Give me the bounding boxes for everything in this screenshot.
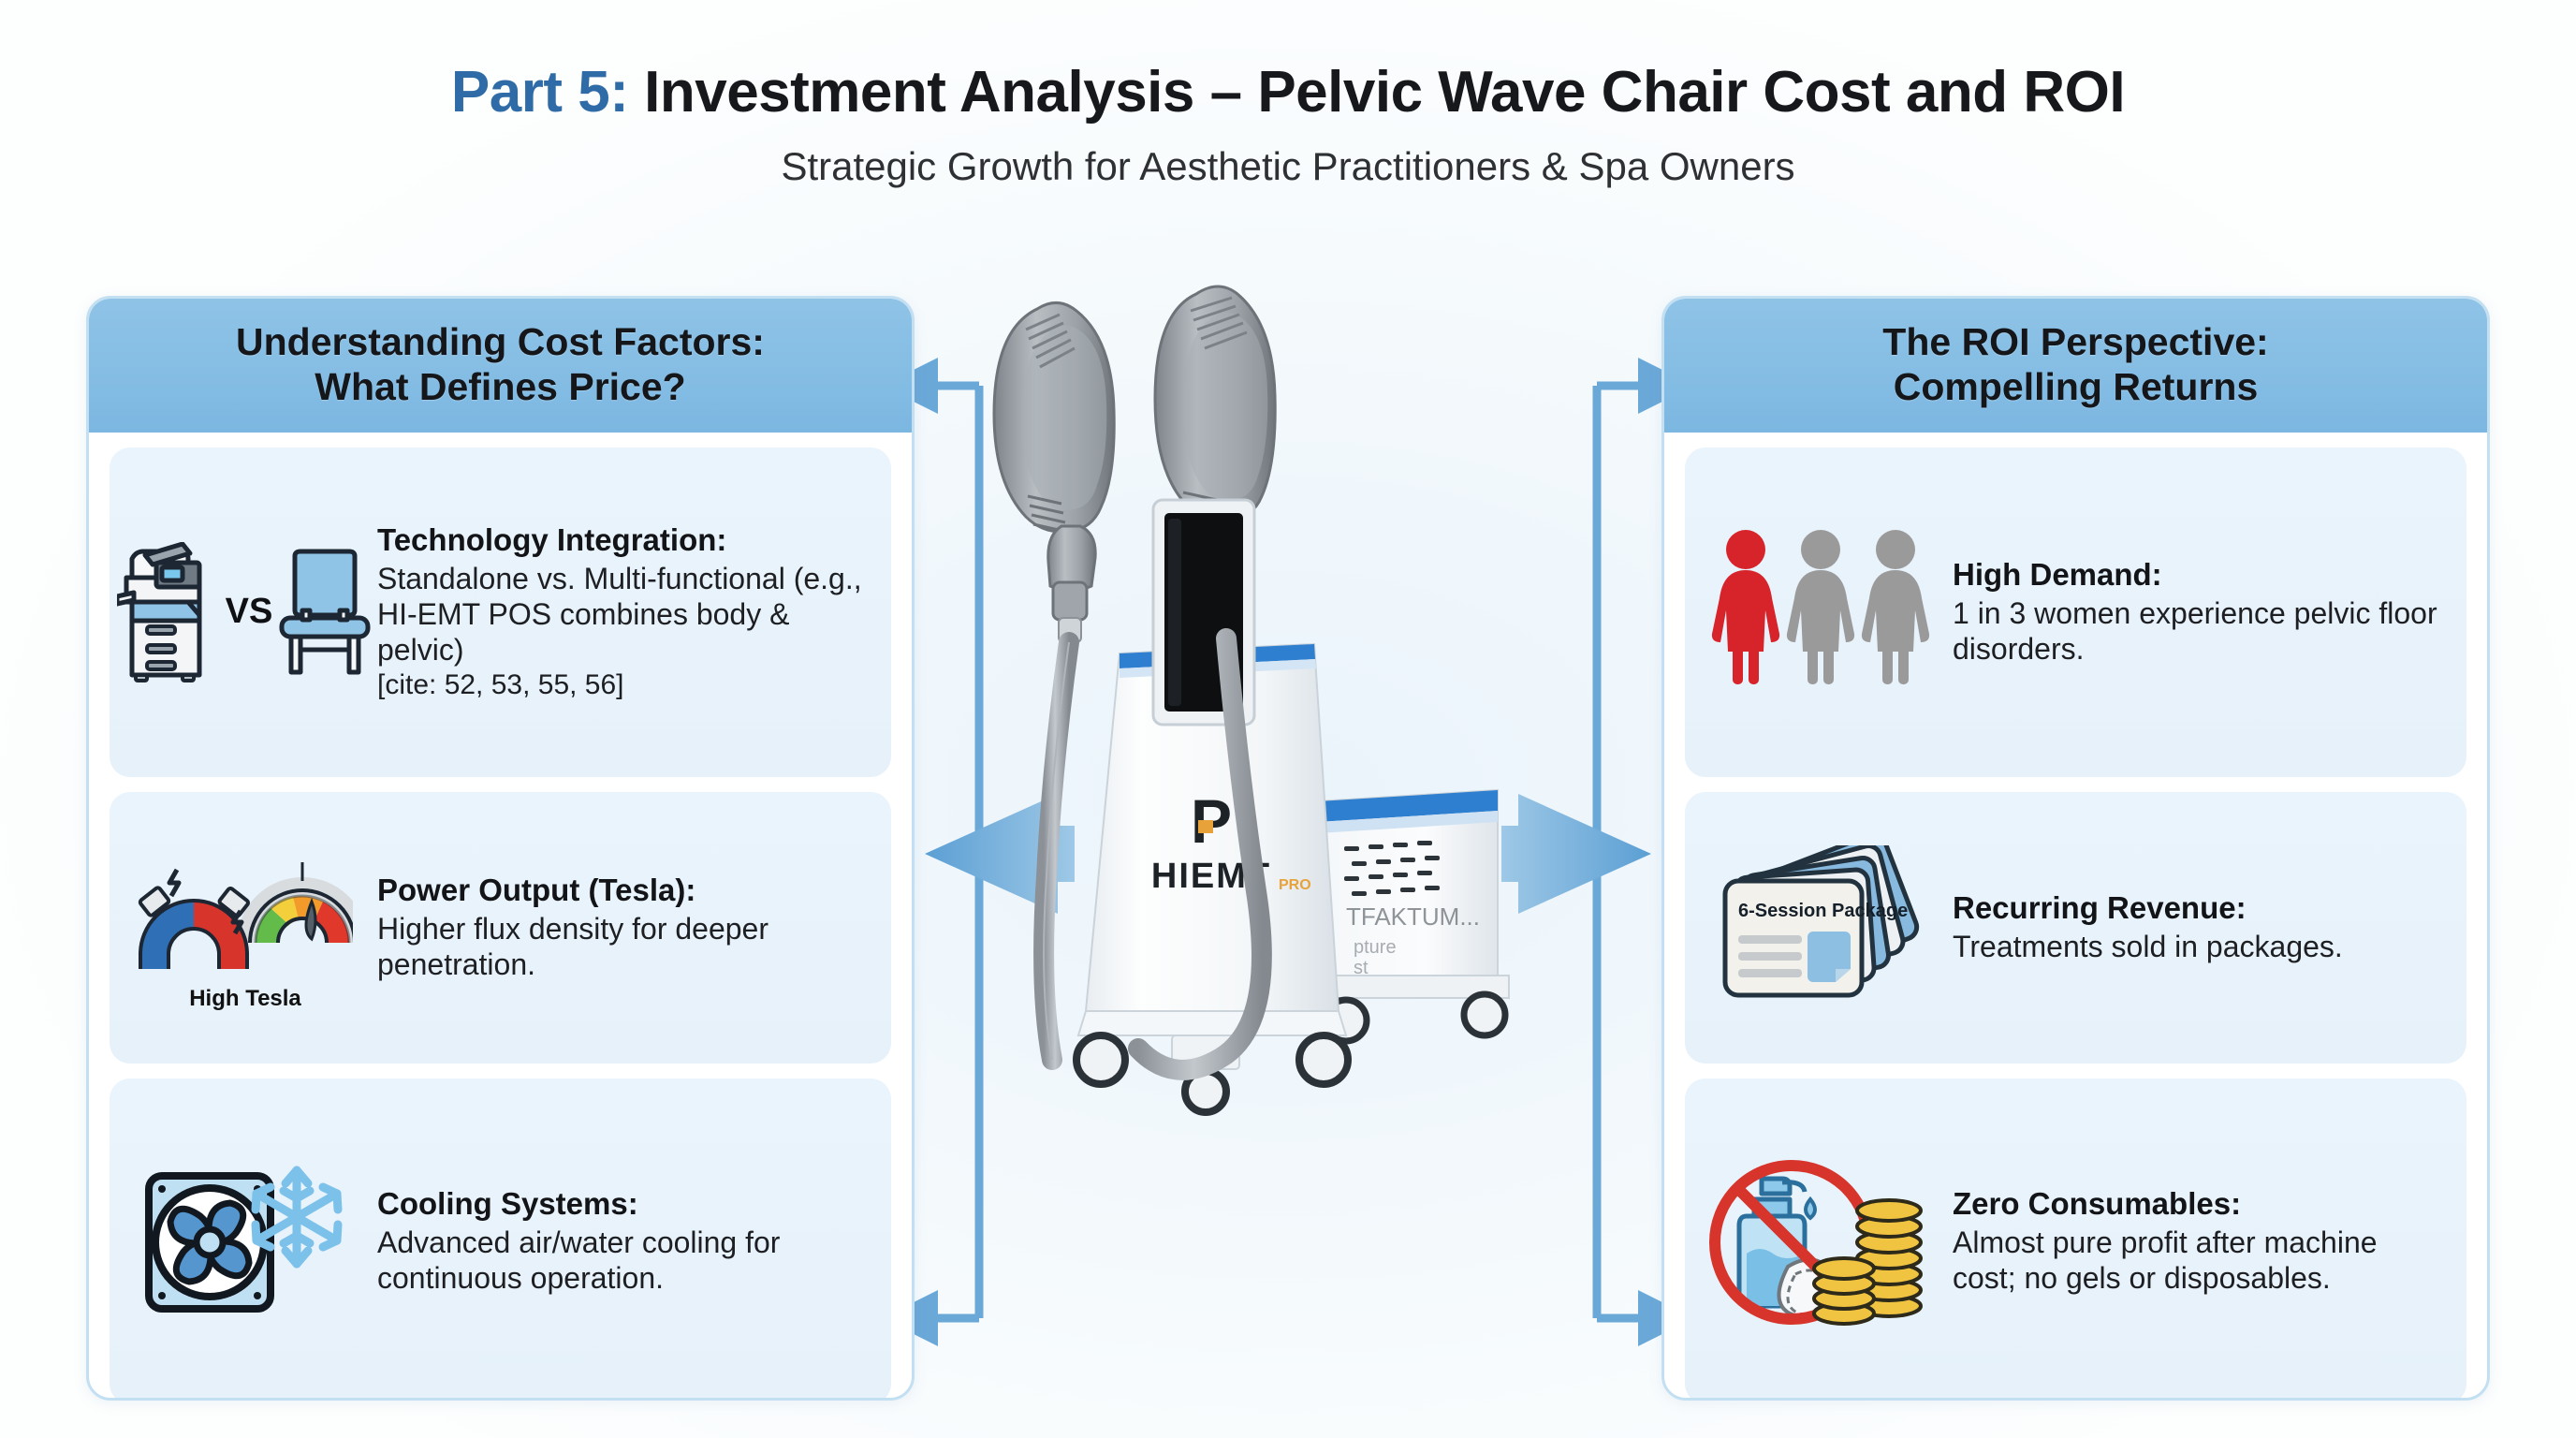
cost-factors-heading-line2: What Defines Price? xyxy=(106,364,895,409)
roi-perspective-panel: The ROI Perspective: Compelling Returns xyxy=(1661,296,2490,1401)
coin-stack-short xyxy=(1814,1258,1874,1324)
no-consumables-coins-icon xyxy=(1704,1156,1938,1327)
fan-snowflake-icon xyxy=(128,1163,362,1320)
content-stage: Understanding Cost Factors: What Defines… xyxy=(0,281,2576,1432)
device-illustration-area: TFAKTUM... pture st xyxy=(936,281,1647,1432)
card-power-output-title: Power Output (Tesla): xyxy=(377,873,872,909)
woman-figure-gray-2 xyxy=(1862,530,1929,684)
printer-icon xyxy=(117,542,222,682)
cost-factors-card-list: VS xyxy=(89,433,912,1401)
applicator-handle-left xyxy=(994,302,1114,642)
cost-factors-heading-line1: Understanding Cost Factors: xyxy=(106,319,895,364)
cost-factors-panel-header: Understanding Cost Factors: What Defines… xyxy=(89,299,912,433)
device-side-text: TFAKTUM... xyxy=(1346,902,1480,931)
card-technology-integration-cite: [cite: 52, 53, 55, 56] xyxy=(377,668,872,702)
card-recurring-revenue-text: Recurring Revenue: Treatments sold in pa… xyxy=(1953,890,2448,964)
card-power-output[interactable]: High Tesla Power Output (Tesla): Higher … xyxy=(110,792,891,1064)
card-high-demand-title: High Demand: xyxy=(1953,557,2448,594)
card-recurring-revenue-desc: Treatments sold in packages. xyxy=(1953,929,2448,964)
card-recurring-revenue[interactable]: 6-Session Package Recurring Revenue: Tre… xyxy=(1685,792,2466,1064)
hiemt-machine-image: TFAKTUM... pture st xyxy=(936,281,1647,1432)
card-cooling-systems[interactable]: Cooling Systems: Advanced air/water cool… xyxy=(110,1078,891,1401)
fan-and-snowflake-glyph xyxy=(138,1163,353,1320)
package-cards-icon: 6-Session Package xyxy=(1704,845,1938,1010)
chair-icon xyxy=(276,549,373,676)
printer-vs-chair-icon: VS xyxy=(128,542,362,682)
magnet-and-gauge-glyph xyxy=(138,844,353,984)
roi-panel-header: The ROI Perspective: Compelling Returns xyxy=(1664,299,2487,433)
no-consumables-glyph xyxy=(1705,1156,1936,1327)
page-title: Part 5: Investment Analysis – Pelvic Wav… xyxy=(0,62,2576,125)
three-women-icon xyxy=(1704,523,1938,701)
page-header: Part 5: Investment Analysis – Pelvic Wav… xyxy=(0,0,2576,188)
card-zero-consumables[interactable]: Zero Consumables: Almost pure profit aft… xyxy=(1685,1078,2466,1401)
device-brand-sup: PRO xyxy=(1279,877,1311,893)
card-technology-integration-text: Technology Integration: Standalone vs. M… xyxy=(377,522,872,702)
card-power-output-text: Power Output (Tesla): Higher flux densit… xyxy=(377,873,872,983)
woman-figure-gray-1 xyxy=(1787,530,1854,684)
card-high-demand-text: High Demand: 1 in 3 women experience pel… xyxy=(1953,557,2448,668)
page-subtitle: Strategic Growth for Aesthetic Practitio… xyxy=(0,145,2576,188)
card-cooling-systems-title: Cooling Systems: xyxy=(377,1186,872,1223)
svg-text:pture: pture xyxy=(1354,937,1397,958)
page-title-part-label: Part 5: xyxy=(451,60,628,125)
card-zero-consumables-desc: Almost pure profit after machine cost; n… xyxy=(1953,1225,2448,1297)
cost-factors-panel: Understanding Cost Factors: What Defines… xyxy=(86,296,915,1401)
roi-card-list: High Demand: 1 in 3 women experience pel… xyxy=(1664,433,2487,1401)
card-high-demand[interactable]: High Demand: 1 in 3 women experience pel… xyxy=(1685,448,2466,777)
card-cooling-systems-desc: Advanced air/water cooling for continuou… xyxy=(377,1225,872,1297)
machine-tower-body: P HIEMT PRO xyxy=(1076,500,1348,1112)
session-package-cards-glyph: 6-Session Package xyxy=(1710,845,1931,1010)
magnet-gauge-caption: High Tesla xyxy=(189,986,301,1012)
roi-heading-line1: The ROI Perspective: xyxy=(1681,319,2470,364)
magnet-gauge-icon: High Tesla xyxy=(128,844,362,1012)
card-technology-integration-desc: Standalone vs. Multi-functional (e.g., H… xyxy=(377,561,872,668)
card-high-demand-desc: 1 in 3 women experience pelvic floor dis… xyxy=(1953,595,2448,668)
card-cooling-systems-text: Cooling Systems: Advanced air/water cool… xyxy=(377,1186,872,1297)
card-recurring-revenue-title: Recurring Revenue: xyxy=(1953,890,2448,927)
card-technology-integration[interactable]: VS xyxy=(110,448,891,777)
package-card-label: 6-Session Package xyxy=(1738,901,1908,921)
card-zero-consumables-title: Zero Consumables: xyxy=(1953,1186,2448,1223)
woman-figure-highlighted xyxy=(1712,530,1779,684)
card-zero-consumables-text: Zero Consumables: Almost pure profit aft… xyxy=(1953,1186,2448,1297)
roi-heading-line2: Compelling Returns xyxy=(1681,364,2470,409)
vs-label: VS xyxy=(226,592,273,632)
page-title-rest: Investment Analysis – Pelvic Wave Chair … xyxy=(628,60,2125,125)
card-power-output-desc: Higher flux density for deeper penetrati… xyxy=(377,911,872,983)
three-women-glyph xyxy=(1708,523,1933,701)
card-technology-integration-title: Technology Integration: xyxy=(377,522,872,559)
